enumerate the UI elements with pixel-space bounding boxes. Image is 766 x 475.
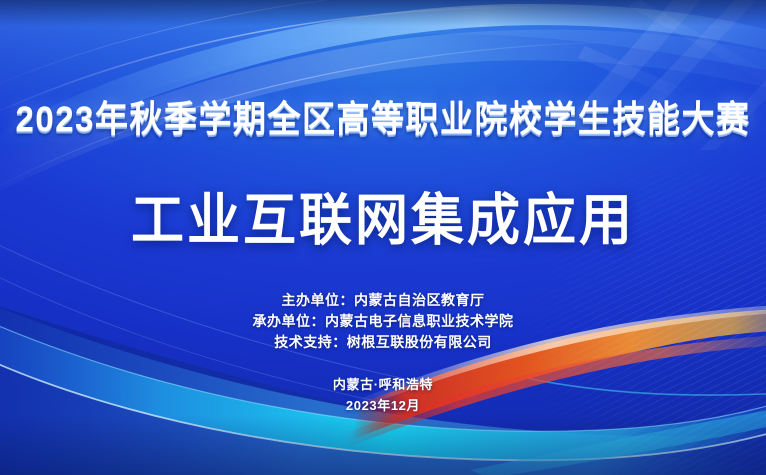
poster-content: 2023年秋季学期全区高等职业院校学生技能大赛 工业互联网集成应用 主办单位：内… xyxy=(0,0,766,475)
poster-headline: 2023年秋季学期全区高等职业院校学生技能大赛 xyxy=(0,90,766,142)
organizer-line-undertaker: 承办单位：内蒙古电子信息职业技术学院 xyxy=(0,311,766,332)
organizer-line-tech-support: 技术支持：树根互联股份有限公司 xyxy=(0,332,766,353)
organizer-line-host: 主办单位：内蒙古自治区教育厅 xyxy=(0,290,766,311)
organizer-block: 主办单位：内蒙古自治区教育厅 承办单位：内蒙古电子信息职业技术学院 技术支持：树… xyxy=(0,290,766,353)
place-date-block: 内蒙古·呼和浩特 2023年12月 xyxy=(0,374,766,416)
location-text: 内蒙古·呼和浩特 xyxy=(0,374,766,395)
poster-subtitle: 工业互联网集成应用 xyxy=(0,176,766,257)
date-text: 2023年12月 xyxy=(0,395,766,416)
poster-canvas: 2023年秋季学期全区高等职业院校学生技能大赛 工业互联网集成应用 主办单位：内… xyxy=(0,0,766,475)
